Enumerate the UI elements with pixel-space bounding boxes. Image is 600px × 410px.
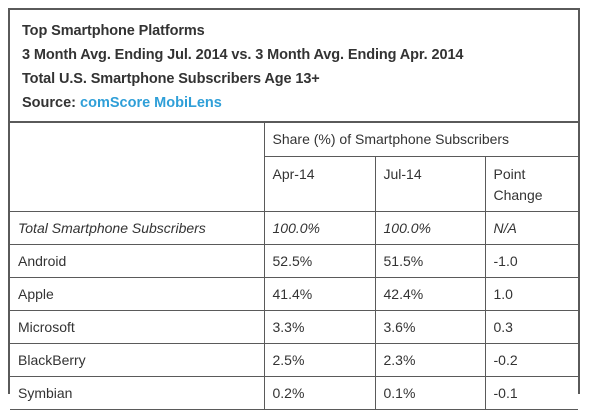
row-header-corner [10, 122, 264, 212]
cell-jul: 100.0% [375, 212, 485, 245]
row-label: Total Smartphone Subscribers [10, 212, 264, 245]
cell-apr: 100.0% [264, 212, 375, 245]
title-block: Top Smartphone Platforms 3 Month Avg. En… [10, 10, 578, 121]
cell-point-change: -1.0 [485, 245, 578, 278]
page-subtitle: 3 Month Avg. Ending Jul. 2014 vs. 3 Mont… [22, 43, 578, 67]
page-scope-note: Total U.S. Smartphone Subscribers Age 13… [22, 67, 578, 91]
table-head: Share (%) of Smartphone Subscribers Apr-… [10, 122, 578, 212]
cell-point-change: -0.1 [485, 377, 578, 410]
column-header-point-change: Point Change [485, 157, 578, 212]
table-row: Microsoft 3.3% 3.6% 0.3 [10, 311, 578, 344]
cell-apr: 2.5% [264, 344, 375, 377]
cell-apr: 52.5% [264, 245, 375, 278]
share-table: Share (%) of Smartphone Subscribers Apr-… [10, 121, 578, 410]
cell-apr: 41.4% [264, 278, 375, 311]
row-label: Symbian [10, 377, 264, 410]
cell-point-change: 1.0 [485, 278, 578, 311]
source-label: Source: [22, 95, 76, 111]
table-row: Symbian 0.2% 0.1% -0.1 [10, 377, 578, 410]
column-group-header: Share (%) of Smartphone Subscribers [264, 122, 578, 157]
column-header-apr: Apr-14 [264, 157, 375, 212]
cell-apr: 3.3% [264, 311, 375, 344]
cell-point-change: N/A [485, 212, 578, 245]
row-label: Apple [10, 278, 264, 311]
source-link[interactable]: comScore MobiLens [80, 95, 222, 111]
table-row: BlackBerry 2.5% 2.3% -0.2 [10, 344, 578, 377]
cell-jul: 51.5% [375, 245, 485, 278]
row-label: Microsoft [10, 311, 264, 344]
point-change-line-2: Change [494, 185, 571, 206]
point-change-line-1: Point [494, 164, 571, 185]
table-row: Apple 41.4% 42.4% 1.0 [10, 278, 578, 311]
report-card: Top Smartphone Platforms 3 Month Avg. En… [8, 8, 580, 394]
column-header-jul: Jul-14 [375, 157, 485, 212]
cell-point-change: 0.3 [485, 311, 578, 344]
table-row: Total Smartphone Subscribers 100.0% 100.… [10, 212, 578, 245]
cell-point-change: -0.2 [485, 344, 578, 377]
cell-jul: 2.3% [375, 344, 485, 377]
cell-jul: 3.6% [375, 311, 485, 344]
table-group-header-row: Share (%) of Smartphone Subscribers [10, 122, 578, 157]
row-label: Android [10, 245, 264, 278]
source-line: Source: comScore MobiLens [22, 91, 578, 115]
cell-apr: 0.2% [264, 377, 375, 410]
row-label: BlackBerry [10, 344, 264, 377]
table-row: Android 52.5% 51.5% -1.0 [10, 245, 578, 278]
cell-jul: 0.1% [375, 377, 485, 410]
page-title: Top Smartphone Platforms [22, 19, 578, 43]
cell-jul: 42.4% [375, 278, 485, 311]
table-body: Total Smartphone Subscribers 100.0% 100.… [10, 212, 578, 410]
